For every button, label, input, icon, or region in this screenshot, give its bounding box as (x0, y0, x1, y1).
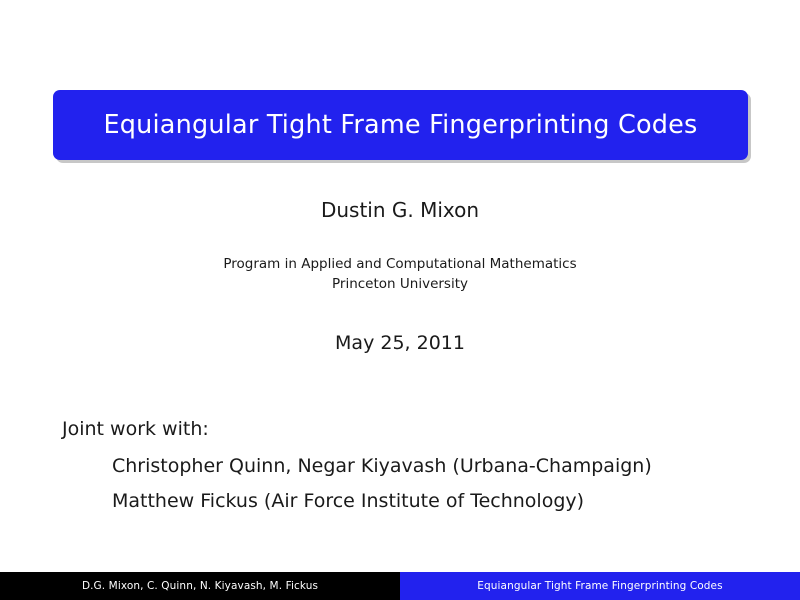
footer-authors-section: D.G. Mixon, C. Quinn, N. Kiyavash, M. Fi… (0, 572, 400, 600)
slide-title: Equiangular Tight Frame Fingerprinting C… (103, 111, 697, 139)
slide-footer: D.G. Mixon, C. Quinn, N. Kiyavash, M. Fi… (0, 572, 800, 600)
institute-line-2: Princeton University (0, 275, 800, 295)
footer-title-text: Equiangular Tight Frame Fingerprinting C… (477, 580, 722, 592)
author-block: Dustin G. Mixon (0, 198, 800, 223)
joint-work-heading: Joint work with: (62, 419, 762, 440)
joint-work-block: Joint work with: Christopher Quinn, Nega… (62, 419, 762, 526)
presentation-date: May 25, 2011 (0, 332, 800, 354)
footer-title-section: Equiangular Tight Frame Fingerprinting C… (400, 572, 800, 600)
institute-line-1: Program in Applied and Computational Mat… (0, 255, 800, 275)
institute-block: Program in Applied and Computational Mat… (0, 255, 800, 294)
collaborator-line: Christopher Quinn, Negar Kiyavash (Urban… (112, 456, 762, 477)
presentation-slide: Equiangular Tight Frame Fingerprinting C… (0, 0, 800, 600)
date-block: May 25, 2011 (0, 332, 800, 354)
footer-authors-text: D.G. Mixon, C. Quinn, N. Kiyavash, M. Fi… (82, 580, 318, 592)
collaborator-line: Matthew Fickus (Air Force Institute of T… (112, 491, 762, 512)
title-banner: Equiangular Tight Frame Fingerprinting C… (53, 90, 748, 160)
author-name: Dustin G. Mixon (0, 198, 800, 223)
